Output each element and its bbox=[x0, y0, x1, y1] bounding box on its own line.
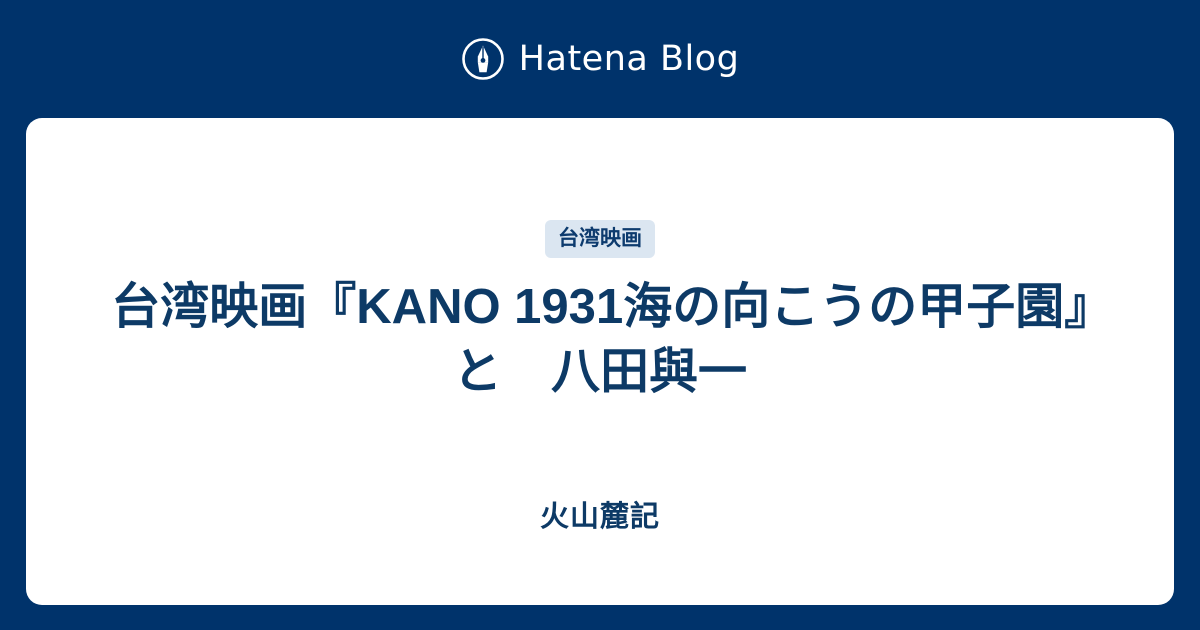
hatena-pen-nib-icon bbox=[461, 37, 505, 81]
entry-title: 台湾映画『KANO 1931海の向こうの甲子園』 と 八田與一 bbox=[26, 275, 1174, 404]
category-badge-row: 台湾映画 bbox=[26, 220, 1174, 258]
category-badge[interactable]: 台湾映画 bbox=[545, 220, 655, 258]
hatena-blog-brand-header: Hatena Blog bbox=[0, 0, 1200, 118]
blog-name: 火山麓記 bbox=[26, 503, 1174, 532]
ogp-card-canvas: Hatena Blog 台湾映画 台湾映画『KANO 1931海の向こうの甲子園… bbox=[0, 0, 1200, 630]
entry-card: 台湾映画 台湾映画『KANO 1931海の向こうの甲子園』 と 八田與一 火山麓… bbox=[26, 118, 1174, 605]
hatena-blog-wordmark: Hatena Blog bbox=[519, 42, 740, 77]
